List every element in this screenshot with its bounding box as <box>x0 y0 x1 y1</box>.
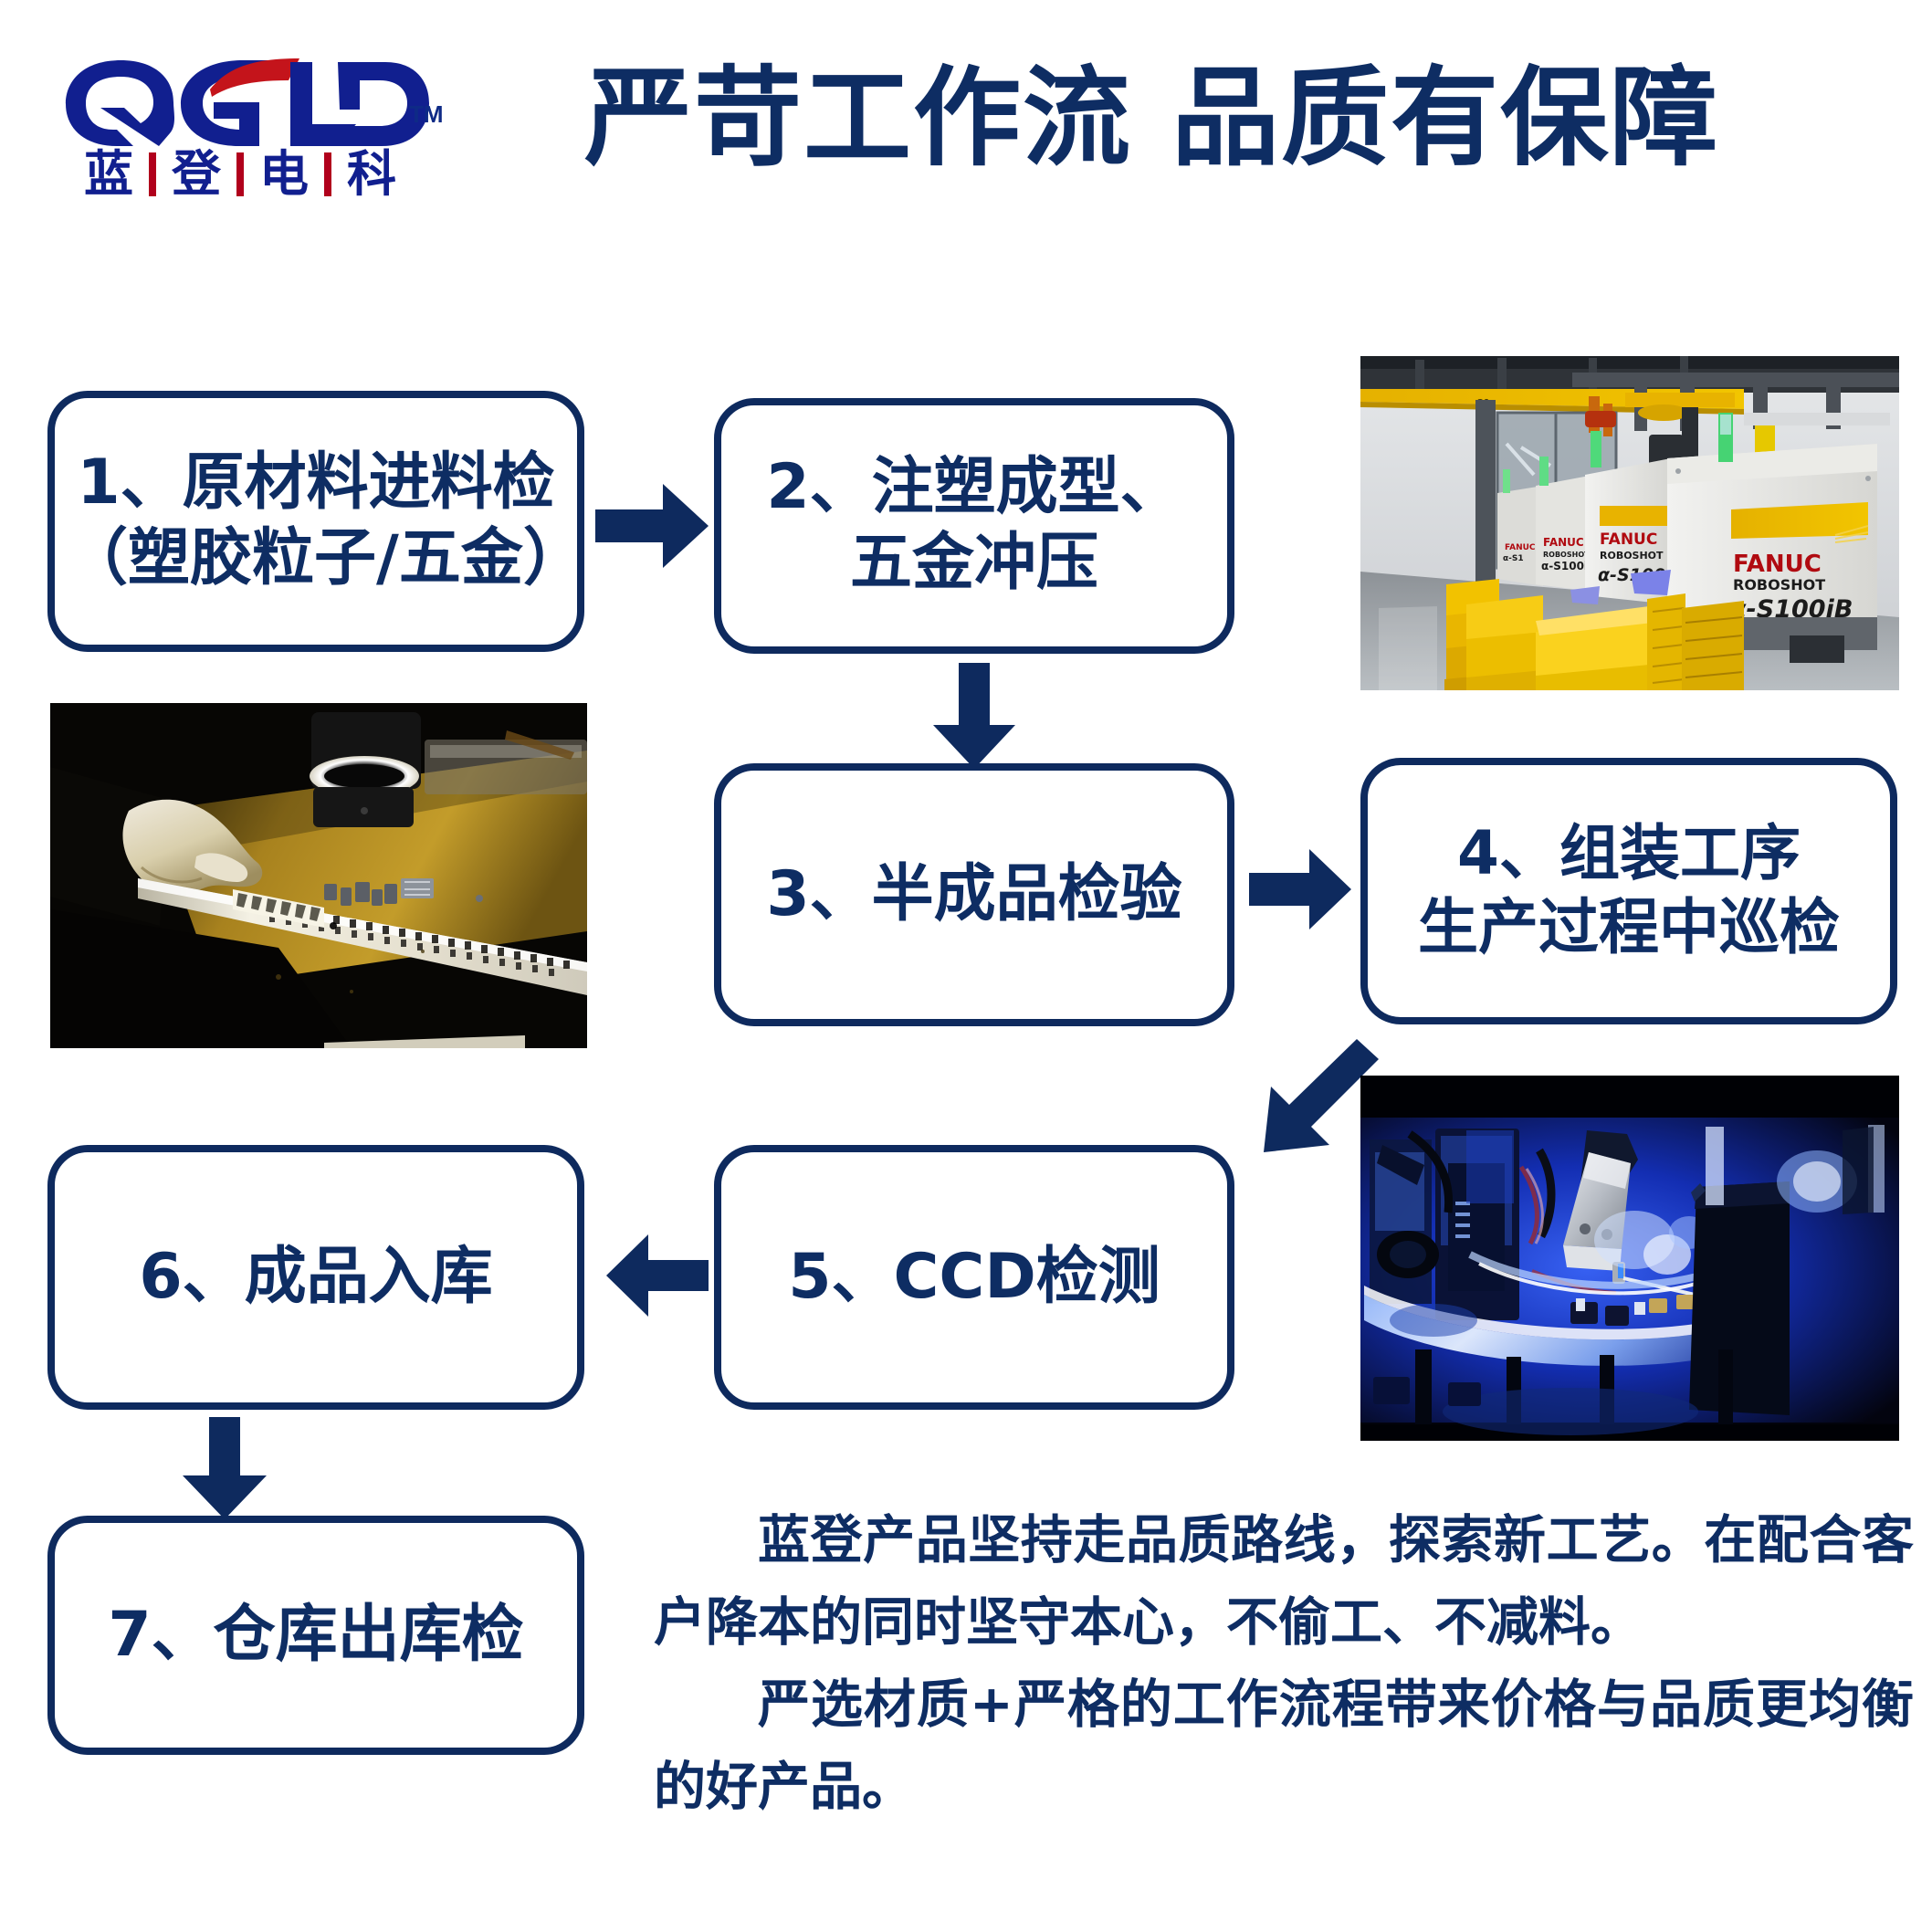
page-title: 严苛工作流 品质有保障 <box>584 57 1863 181</box>
logo-char-deng: 登 <box>172 150 221 199</box>
logo-divider-bar-3 <box>324 152 331 196</box>
flow-step-2-label: 2、注塑成型、 五金冲压 <box>755 450 1192 602</box>
svg-text:ROBOSHOT: ROBOSHOT <box>1733 576 1825 593</box>
svg-text:FANUC: FANUC <box>1543 536 1584 549</box>
company-logo: TM 蓝 登 电 科 <box>64 55 447 201</box>
body-paragraph-2: 严选材质+严格的工作流程带来价格与品质更均衡的好产品。 <box>654 1664 1914 1828</box>
svg-text:ROBOSHOT: ROBOSHOT <box>1543 551 1590 559</box>
flow-step-5: 5、CCD检测 <box>714 1145 1234 1410</box>
flow-step-6-label: 6、成品入库 <box>128 1240 503 1316</box>
flow-step-6: 6、成品入库 <box>47 1145 584 1410</box>
logo-char-ke: 科 <box>347 150 396 199</box>
flow-step-5-label: 5、CCD检测 <box>777 1240 1171 1316</box>
svg-text:FANUC: FANUC <box>1505 543 1536 552</box>
svg-text:ROBOSHOT: ROBOSHOT <box>1600 550 1664 562</box>
flow-step-3: 3、半成品检验 <box>714 763 1234 1026</box>
arrow-right-icon-step3-step4 <box>1249 849 1351 929</box>
logo-char-lan: 蓝 <box>84 150 133 199</box>
arrow-left-icon-step5-step6 <box>606 1234 709 1317</box>
arrow-down-icon-step2-step3 <box>933 663 1015 769</box>
flow-step-1: 1、原材料进料检 （塑胶粒子/五金） <box>47 391 584 652</box>
flow-step-1-label: 1、原材料进料检 （塑胶粒子/五金） <box>55 446 577 597</box>
arrow-down-icon-step6-step7 <box>183 1417 267 1519</box>
body-paragraph-1: 蓝登产品坚持走品质路线，探索新工艺。在配合客户降本的同时坚守本心，不偷工、不减料… <box>654 1499 1914 1664</box>
flow-step-7-label: 7、仓库出库检 <box>97 1598 534 1674</box>
flow-step-7: 7、仓库出库检 <box>47 1516 584 1755</box>
logo-divider-bar-2 <box>236 152 244 196</box>
flow-step-3-label: 3、半成品检验 <box>755 857 1192 933</box>
svg-text:α-S1: α-S1 <box>1503 554 1524 563</box>
flow-step-4: 4、组装工序 生产过程中巡检 <box>1360 758 1897 1024</box>
flow-step-2: 2、注塑成型、 五金冲压 <box>714 398 1234 654</box>
svg-text:FANUC: FANUC <box>1600 530 1657 549</box>
flow-step-4-label: 4、组装工序 生产过程中巡检 <box>1407 817 1851 964</box>
photo-microscope-terminal-inspection <box>50 703 587 1048</box>
trademark-symbol: TM <box>409 100 444 129</box>
arrow-right-icon-step1-step2 <box>595 484 709 568</box>
logo-divider-bar-1 <box>149 152 156 196</box>
logo-char-dian: 电 <box>259 150 309 199</box>
photo-injection-molding-machines: 21 <box>1360 356 1899 690</box>
qgld-wordmark-icon: TM <box>64 55 429 146</box>
photo-ccd-inspection-machine <box>1360 1076 1899 1441</box>
logo-chinese-subtitle: 蓝 登 电 科 <box>84 150 396 199</box>
body-copy: 蓝登产品坚持走品质路线，探索新工艺。在配合客户降本的同时坚守本心，不偷工、不减料… <box>654 1499 1914 1828</box>
svg-text:FANUC: FANUC <box>1733 551 1822 578</box>
poster-canvas: TM 蓝 登 电 科 严苛工作流 品质有保障 1、原材料进料检 （塑胶粒子/五金… <box>0 0 1932 1932</box>
